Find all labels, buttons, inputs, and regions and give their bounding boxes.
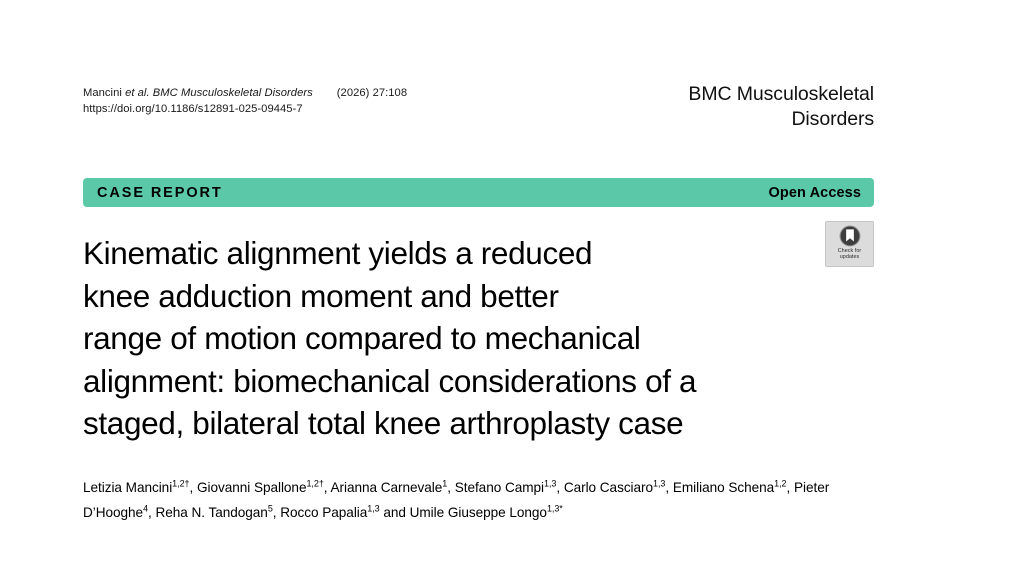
article-title-line: knee adduction moment and better	[83, 278, 559, 314]
author-entry: Giovanni Spallone1,2†	[197, 480, 324, 495]
author-entry: Arianna Carnevale1	[331, 480, 448, 495]
article-type-banner: CASE REPORT Open Access	[83, 178, 874, 207]
running-head-etal: et al.	[125, 87, 150, 99]
running-head-journal: BMC Musculoskeletal Disorders	[150, 87, 313, 99]
article-title-line: staged, bilateral total knee arthroplast…	[83, 405, 683, 441]
author-separator: ,	[665, 480, 672, 495]
journal-title-line2: Disorders	[454, 107, 874, 132]
author-name: Emiliano Schena	[673, 480, 774, 495]
check-for-updates-line2: updates	[840, 254, 860, 260]
author-name: Rocco Papalia	[280, 505, 367, 520]
author-name: Carlo Casciaro	[564, 480, 653, 495]
author-entry: Reha N. Tandogan5	[156, 505, 273, 520]
author-affiliation-marker: 1,2†	[306, 478, 323, 488]
author-separator: ,	[556, 480, 563, 495]
author-entry: Letizia Mancini1,2†	[83, 480, 190, 495]
check-for-updates-text: Check for updates	[838, 248, 862, 261]
author-affiliation-marker: 1,3	[544, 478, 556, 488]
author-entry: Rocco Papalia1,3	[280, 505, 379, 520]
journal-title-line1: BMC Musculoskeletal	[454, 82, 874, 107]
article-title-line: range of motion compared to mechanical	[83, 320, 641, 356]
author-name: Giovanni Spallone	[197, 480, 307, 495]
author-separator: ,	[324, 480, 331, 495]
author-affiliation-marker: 1,2	[774, 478, 786, 488]
author-name: Arianna Carnevale	[331, 480, 443, 495]
article-title-line: Kinematic alignment yields a reduced	[83, 235, 592, 271]
check-for-updates-line1: Check for	[838, 248, 862, 254]
author-name: Letizia Mancini	[83, 480, 172, 495]
author-separator: ,	[787, 480, 794, 495]
author-affiliation-marker: 1,3*	[547, 503, 563, 513]
article-type-label: CASE REPORT	[97, 185, 223, 201]
article-title-line: alignment: biomechanical considerations …	[83, 363, 696, 399]
author-affiliation-marker: 1,2†	[172, 478, 189, 488]
author-separator: and	[380, 505, 410, 520]
article-title: Kinematic alignment yields a reducedknee…	[83, 232, 823, 445]
author-list: Letizia Mancini1,2†, Giovanni Spallone1,…	[83, 476, 883, 525]
article-first-page: Mancini et al. BMC Musculoskeletal Disor…	[0, 0, 1024, 576]
journal-masthead: BMC Musculoskeletal Disorders	[454, 82, 874, 132]
author-entry: Umile Giuseppe Longo1,3*	[410, 505, 563, 520]
crossmark-bookmark-icon	[839, 225, 861, 247]
author-entry: Carlo Casciaro1,3	[564, 480, 666, 495]
running-head-author: Mancini	[83, 87, 125, 99]
author-affiliation-marker: 1,3	[653, 478, 665, 488]
author-name: Reha N. Tandogan	[156, 505, 268, 520]
running-head-issue: (2026) 27:108	[337, 86, 407, 101]
author-separator: ,	[148, 505, 155, 520]
author-separator: ,	[190, 480, 197, 495]
author-separator: ,	[447, 480, 454, 495]
author-entry: Stefano Campi1,3	[455, 480, 557, 495]
author-entry: Emiliano Schena1,2	[673, 480, 787, 495]
author-name: Umile Giuseppe Longo	[410, 505, 547, 520]
open-access-label: Open Access	[769, 185, 861, 201]
check-for-updates-badge[interactable]: Check for updates	[825, 221, 874, 267]
author-name: Stefano Campi	[455, 480, 544, 495]
author-affiliation-marker: 1,3	[367, 503, 379, 513]
